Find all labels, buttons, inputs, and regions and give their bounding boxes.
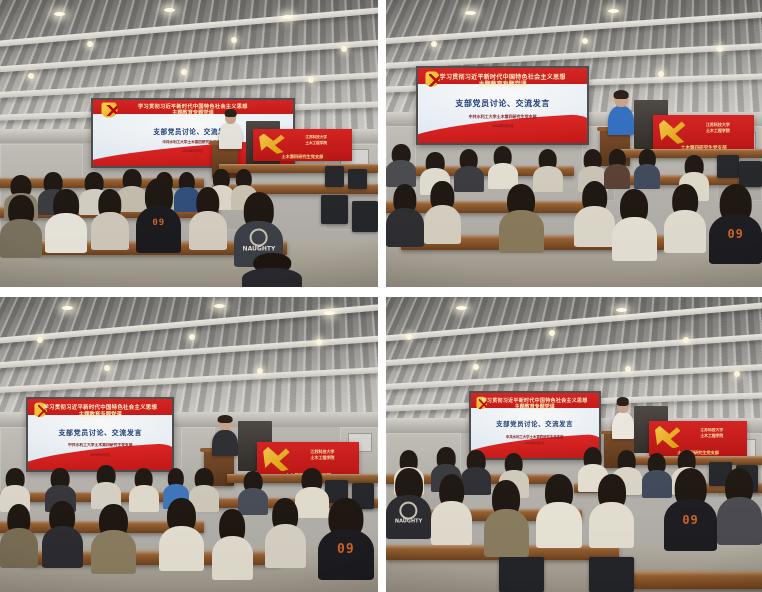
- audience-member: [536, 474, 581, 548]
- slide-headline: 支部党员讨论、交流发言: [471, 419, 599, 428]
- audience-member: [159, 498, 204, 572]
- chair: [499, 557, 544, 592]
- banner-line2: 土木工程学院: [680, 434, 743, 440]
- audience-member: [484, 480, 529, 557]
- audience-member: [91, 189, 129, 249]
- downlight-icon: [28, 73, 34, 79]
- tee-number-09: 09: [727, 227, 743, 241]
- speaker: [212, 430, 238, 457]
- audience-member-09: 09: [318, 498, 375, 581]
- chair: [321, 195, 347, 224]
- banner-line2: 土木工程学院: [285, 141, 348, 146]
- chair: [352, 201, 378, 233]
- audience-member: [0, 504, 38, 569]
- red-banner: 江苏科技大学 土木工程学院 土木第四研究生党支部: [253, 129, 351, 161]
- slide-title-line2: 主题教育专题党课: [418, 79, 587, 88]
- banner-line2: 土木工程学院: [290, 455, 355, 461]
- downlight-icon: [406, 334, 412, 340]
- chair: [739, 161, 762, 187]
- tee-graphic-naughty: NAUGHTY: [395, 501, 422, 525]
- audience-member: [0, 195, 42, 258]
- audience-member: [91, 504, 136, 575]
- chair: [589, 557, 634, 592]
- audience-member-09: 09: [664, 468, 717, 551]
- slide-title-line2: 主题教育专题党课: [471, 403, 599, 410]
- banner-line2: 土木工程学院: [685, 128, 750, 134]
- slide-org: 中共水利工大学土木第四研究生党支部: [418, 114, 587, 120]
- chair: [717, 155, 740, 178]
- red-banner: 江苏科技大学 土木工程学院 土木第四研究生党支部: [653, 115, 755, 152]
- slide-headline: 支部党员讨论、交流发言: [418, 98, 587, 109]
- audience-member: [189, 187, 227, 250]
- audience-member: [634, 149, 660, 189]
- chair: [348, 169, 367, 189]
- photo-bottom-right[interactable]: 学习贯彻习近平新时代中国特色社会主义思想 主题教育专题党课 支部党员讨论、交流发…: [386, 297, 762, 592]
- speaker: [612, 412, 635, 439]
- slide-org: 中共水利工大学土木第四研究生党支部: [28, 443, 172, 448]
- audience-member: [717, 468, 762, 545]
- hammer-sickle-icon: [655, 426, 680, 449]
- audience-member: [589, 474, 634, 548]
- downlight-icon: [189, 334, 195, 340]
- tee-number-09: 09: [337, 542, 355, 557]
- speaker: [608, 106, 634, 135]
- downlight-icon: [308, 77, 314, 83]
- photo-collage: 学习贯彻习近平新时代中国特色社会主义思想 主题教育专题党课 支部党员讨论、交流发…: [0, 0, 762, 592]
- audience-member: [386, 144, 416, 187]
- slide-title-line2: 主题教育专题党课: [28, 410, 172, 418]
- tee-graphic-naughty: NAUGHTY: [243, 227, 276, 252]
- slide-date: 2023年6月8日: [28, 452, 172, 457]
- desk-row: [634, 571, 762, 589]
- audience-member: [42, 501, 84, 569]
- tee-number-09: 09: [152, 218, 165, 228]
- audience-member: [664, 184, 705, 253]
- audience-member: [424, 181, 462, 244]
- slide-headline: 支部党员讨论、交流发言: [28, 428, 172, 438]
- photo-bottom-left[interactable]: 学习贯彻习近平新时代中国特色社会主义思想 主题教育专题党课 支部党员讨论、交流发…: [0, 297, 378, 592]
- audience-member: [499, 184, 544, 253]
- hammer-sickle-icon: [263, 447, 290, 472]
- downlight-icon: [37, 337, 43, 343]
- chair: [325, 166, 344, 186]
- downlight-icon: [625, 366, 631, 372]
- downlight-icon: [181, 69, 187, 75]
- audience-member: [242, 253, 302, 287]
- audience-member: [386, 184, 424, 247]
- slide-org: 中共水利工大学土木第四研究生党支部: [471, 434, 599, 439]
- banner-subline: 土木第四研究生党支部: [253, 154, 351, 160]
- tee-number-09: 09: [682, 513, 698, 527]
- audience-member: [45, 189, 87, 252]
- audience-member: [265, 498, 307, 569]
- projection-screen: 学习贯彻习近平新时代中国特色社会主义思想 主题教育专题党课 支部党员讨论、交流发…: [26, 397, 174, 472]
- audience-member-naughty: NAUGHTY: [386, 468, 431, 539]
- audience-member: [574, 181, 615, 247]
- audience-member: [612, 189, 657, 261]
- slide-title-line2: 主题教育专题党课: [93, 109, 293, 116]
- downlight-icon: [257, 368, 263, 374]
- audience-member: [431, 474, 472, 545]
- photo-top-left[interactable]: 学习贯彻习近平新时代中国特色社会主义思想 主题教育专题党课 支部党员讨论、交流发…: [0, 0, 378, 287]
- photo-top-right[interactable]: 学习贯彻习近平新时代中国特色社会主义思想 主题教育专题党课 支部党员讨论、交流发…: [386, 0, 762, 287]
- audience-member-09: 09: [709, 184, 762, 264]
- slide-date: 2023年6月8日: [418, 123, 587, 128]
- audience-member-09: 09: [136, 178, 181, 253]
- hammer-sickle-icon: [259, 134, 285, 154]
- slide-date: 2023年6月8日: [471, 441, 599, 445]
- projection-screen: 学习贯彻习近平新时代中国特色社会主义思想 主题教育专题党课 支部党员讨论、交流发…: [416, 66, 589, 145]
- hammer-sickle-icon: [659, 120, 685, 144]
- audience-member: [212, 509, 254, 580]
- downlight-icon: [473, 364, 479, 370]
- speaker: [219, 123, 242, 149]
